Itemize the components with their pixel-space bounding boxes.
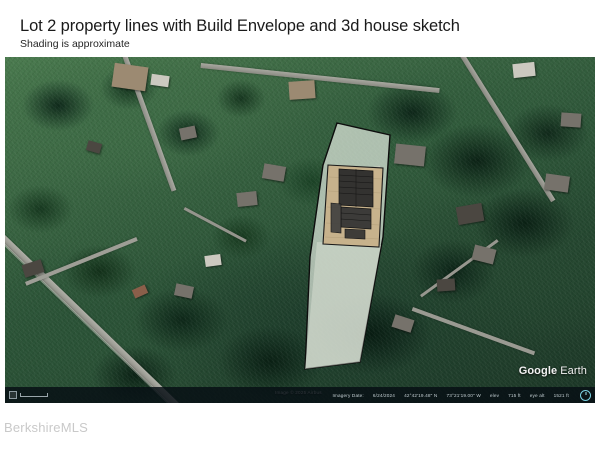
status-bar-left[interactable] bbox=[9, 391, 48, 399]
building-rooftop bbox=[394, 143, 426, 166]
building-rooftop bbox=[437, 278, 456, 291]
building-rooftop bbox=[150, 74, 169, 87]
layers-toggle-icon[interactable] bbox=[9, 391, 17, 399]
building-rooftop bbox=[544, 173, 570, 192]
google-wordmark: Google bbox=[519, 365, 558, 377]
google-earth-logo: GoogleEarth bbox=[519, 365, 587, 377]
imagery-texture-layer bbox=[5, 57, 595, 403]
page-title: Lot 2 property lines with Build Envelope… bbox=[20, 17, 460, 36]
building-rooftop bbox=[288, 80, 315, 100]
aerial-map-viewport[interactable]: GoogleEarth Image © 2025 Airbus Imagery … bbox=[5, 57, 595, 403]
page-subtitle: Shading is approximate bbox=[20, 38, 130, 50]
building-rooftop bbox=[512, 62, 535, 78]
slide-header: Lot 2 property lines with Build Envelope… bbox=[0, 0, 600, 57]
longitude-value: 73°21'19.00" W bbox=[446, 393, 480, 398]
elevation-value: 715 ft bbox=[508, 393, 521, 398]
compass-dial-icon[interactable] bbox=[580, 390, 591, 401]
elevation-label: elev bbox=[490, 393, 499, 398]
eye-altitude-label: eye alt bbox=[530, 393, 545, 398]
imagery-date-value: 6/24/2024 bbox=[373, 393, 395, 398]
map-status-bar: Imagery Date: 6/24/2024 42°42'19.48" N 7… bbox=[5, 387, 595, 403]
building-rooftop bbox=[236, 191, 257, 207]
building-rooftop bbox=[111, 63, 148, 91]
mls-watermark: BerkshireMLS bbox=[4, 420, 88, 435]
scale-bar-icon bbox=[20, 393, 48, 397]
imagery-date-label: Imagery Date: bbox=[332, 393, 363, 398]
building-rooftop bbox=[561, 112, 582, 127]
status-bar-right: Imagery Date: 6/24/2024 42°42'19.48" N 7… bbox=[332, 390, 591, 401]
building-rooftop bbox=[364, 166, 382, 180]
latitude-value: 42°42'19.48" N bbox=[404, 393, 437, 398]
earth-wordmark: Earth bbox=[560, 365, 587, 377]
map-canvas[interactable]: GoogleEarth Image © 2025 Airbus Imagery … bbox=[5, 57, 595, 403]
eye-altitude-value: 1521 ft bbox=[554, 393, 569, 398]
building-rooftop bbox=[204, 254, 221, 267]
